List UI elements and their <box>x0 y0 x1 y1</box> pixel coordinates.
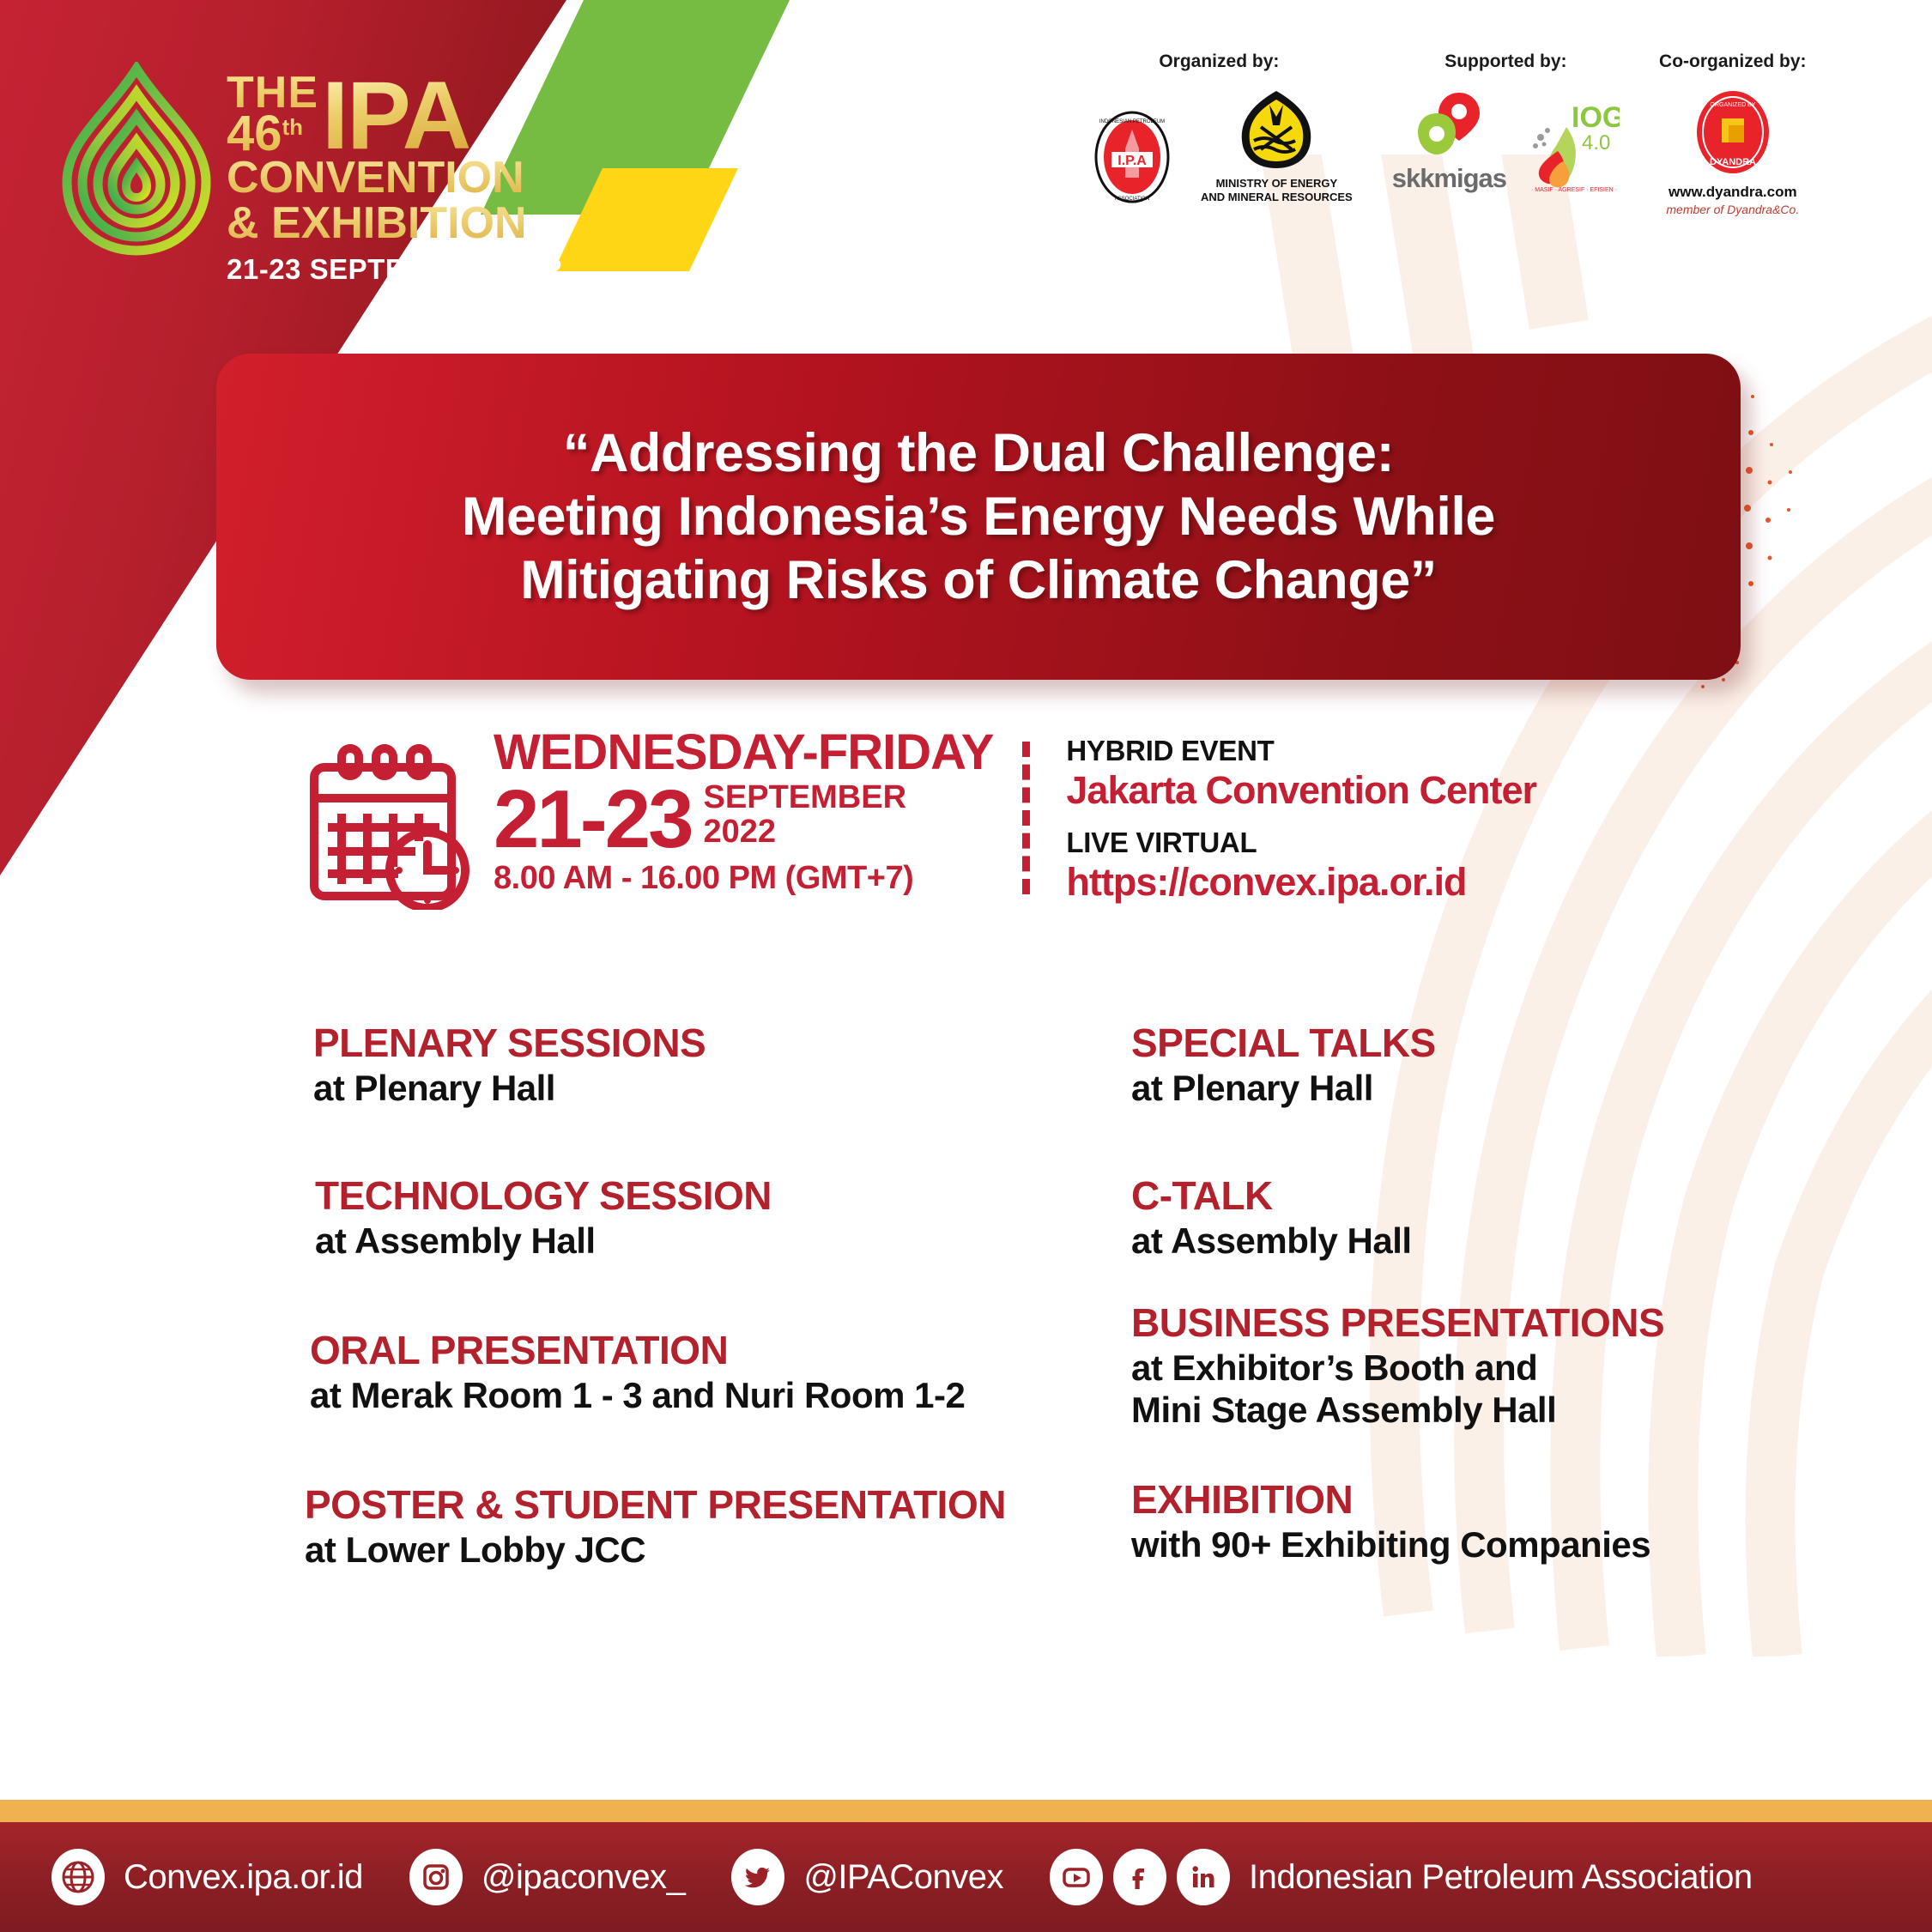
footer-gold-bar <box>0 1800 1932 1822</box>
logo-convention-text: CONVENTION <box>227 155 563 201</box>
globe-icon <box>51 1849 105 1905</box>
live-virtual-label: LIVE VIRTUAL <box>1066 827 1536 859</box>
iog-flame-icon: IOG 4.0 · MASIF · AGRESIF · EFISIEN · <box>1529 101 1620 194</box>
session-title: BUSINESS PRESENTATIONS <box>1131 1301 1664 1345</box>
instagram-icon <box>409 1849 463 1905</box>
session-item-exhibition: EXHIBITION with 90+ Exhibiting Companies <box>1131 1478 1650 1566</box>
session-title: C-TALK <box>1131 1174 1412 1218</box>
session-location: at Merak Room 1 - 3 and Nuri Room 1-2 <box>310 1374 965 1417</box>
session-title: TECHNOLOGY SESSION <box>315 1174 772 1218</box>
hybrid-event-venue: Jakarta Convention Center <box>1066 768 1536 813</box>
event-datetime-venue-row: WEDNESDAY-FRIDAY 21-23 SEPTEMBER 2022 8.… <box>302 728 1536 910</box>
ipa-convention-logo: THE 46 th IPA CONVENTION & EXHIBITION 21… <box>60 62 563 286</box>
ipa-logo-item: I.P.A INDONESIAN PETROLEUM ASSOCIATION <box>1086 111 1178 203</box>
svg-text:4.0: 4.0 <box>1582 131 1610 154</box>
session-item-poster-student-presentation: POSTER & STUDENT PRESENTATION at Lower L… <box>305 1483 1006 1571</box>
coorganized-by-group: Co-organized by: ORGANIZED BY DYANDRA ww… <box>1659 51 1807 216</box>
organized-by-group: Organized by: I.P.A INDONESIAN PETROLEUM… <box>1086 51 1353 203</box>
ipa-droplet-spiral-icon <box>60 62 213 259</box>
skkmigas-wordmark: skkmigas <box>1392 163 1506 194</box>
dyandra-logo-item: ORGANIZED BY DYANDRA www.dyandra.com mem… <box>1666 88 1799 216</box>
session-location: with 90+ Exhibiting Companies <box>1131 1523 1650 1566</box>
youtube-icon <box>1050 1849 1103 1905</box>
logo-dates-text: 21-23 SEPTEMBER 2022 <box>227 253 563 286</box>
session-location: at Plenary Hall <box>1131 1067 1436 1110</box>
skkmigas-pin-icon <box>1406 88 1492 161</box>
facebook-icon <box>1113 1849 1166 1905</box>
svg-text:INDONESIAN PETROLEUM: INDONESIAN PETROLEUM <box>1099 119 1165 124</box>
svg-text:ORGANIZED BY: ORGANIZED BY <box>1710 102 1755 108</box>
logo-exhibition-text: & EXHIBITION <box>227 201 563 246</box>
vertical-dashed-divider <box>1022 742 1030 894</box>
banner-title-line2: Meeting Indonesia’s Energy Needs While <box>462 487 1495 547</box>
dyandra-member-text: member of Dyandra&Co. <box>1666 203 1799 216</box>
partner-logos-strip: Organized by: I.P.A INDONESIAN PETROLEUM… <box>1086 51 1807 216</box>
svg-text:IOG: IOG <box>1572 101 1620 134</box>
session-item-special-talks: SPECIAL TALKS at Plenary Hall <box>1131 1021 1436 1109</box>
logo-edition-number: 46 <box>227 112 282 155</box>
footer-twitter-item[interactable]: @IPAConvex <box>731 1849 1003 1905</box>
session-location: at Assembly Hall <box>315 1220 772 1263</box>
svg-text:DYANDRA: DYANDRA <box>1710 157 1756 167</box>
footer-instagram-handle: @ipaconvex_ <box>481 1858 685 1897</box>
supported-by-group: Supported by: skkmigas IOG 4.0 <box>1392 51 1620 194</box>
event-date-block: WEDNESDAY-FRIDAY 21-23 SEPTEMBER 2022 8.… <box>494 728 993 897</box>
theme-banner: “Addressing the Dual Challenge: Meeting … <box>216 354 1741 680</box>
twitter-icon <box>731 1849 784 1905</box>
footer-website-item[interactable]: Convex.ipa.or.id <box>51 1849 363 1905</box>
ministry-energy-seal-icon <box>1235 88 1317 172</box>
session-location: at Plenary Hall <box>313 1067 706 1110</box>
session-title: ORAL PRESENTATION <box>310 1329 965 1372</box>
footer-social-bar: Convex.ipa.or.id @ipaconvex_ @IPAConvex <box>0 1822 1932 1932</box>
event-time: 8.00 AM - 16.00 PM (GMT+7) <box>494 860 993 897</box>
banner-title-line1: “Addressing the Dual Challenge: <box>563 423 1394 483</box>
calendar-clock-icon <box>302 738 478 910</box>
banner-title-line3: Mitigating Risks of Climate Change” <box>520 550 1437 610</box>
footer-association-name: Indonesian Petroleum Association <box>1249 1858 1753 1897</box>
footer-instagram-item[interactable]: @ipaconvex_ <box>409 1849 685 1905</box>
svg-text:I.P.A: I.P.A <box>1117 154 1147 168</box>
session-title: EXHIBITION <box>1131 1478 1650 1522</box>
session-item-oral-presentation: ORAL PRESENTATION at Merak Room 1 - 3 an… <box>310 1329 965 1416</box>
dyandra-seal-icon: ORGANIZED BY DYANDRA <box>1686 88 1780 180</box>
ipa-association-seal-icon: I.P.A INDONESIAN PETROLEUM ASSOCIATION <box>1086 111 1178 203</box>
hybrid-event-label: HYBRID EVENT <box>1066 735 1536 767</box>
session-title: PLENARY SESSIONS <box>313 1021 706 1065</box>
logo-ordinal-suffix: th <box>282 118 304 136</box>
event-month: SEPTEMBER <box>704 781 906 815</box>
footer-youtube-item[interactable] <box>1050 1849 1103 1905</box>
iog-tagline: · MASIF · AGRESIF · EFISIEN · <box>1531 187 1617 193</box>
supported-by-label: Supported by: <box>1444 51 1566 72</box>
session-item-technology-session: TECHNOLOGY SESSION at Assembly Hall <box>315 1174 772 1262</box>
banner-title: “Addressing the Dual Challenge: Meeting … <box>427 421 1529 613</box>
session-location-line1: at Exhibitor’s Booth and <box>1131 1347 1664 1390</box>
ministry-logo-item: MINISTRY OF ENERGY AND MINERAL RESOURCES <box>1201 88 1353 203</box>
coorganized-by-label: Co-organized by: <box>1659 51 1807 72</box>
skkmigas-logo-item: skkmigas <box>1392 88 1506 194</box>
session-item-plenary-sessions: PLENARY SESSIONS at Plenary Hall <box>313 1021 706 1109</box>
footer-twitter-handle: @IPAConvex <box>803 1858 1003 1897</box>
logo-ipa-acronym: IPA <box>322 76 469 155</box>
session-location: at Lower Lobby JCC <box>305 1529 1006 1572</box>
session-title: POSTER & STUDENT PRESENTATION <box>305 1483 1006 1527</box>
dyandra-url: www.dyandra.com <box>1669 184 1797 201</box>
footer-linkedin-item[interactable]: Indonesian Petroleum Association <box>1177 1849 1753 1905</box>
logo-text-block: THE 46 th IPA CONVENTION & EXHIBITION 21… <box>227 74 563 286</box>
live-virtual-url[interactable]: https://convex.ipa.or.id <box>1066 860 1536 905</box>
event-year: 2022 <box>704 815 906 850</box>
svg-text:ASSOCIATION: ASSOCIATION <box>1115 197 1150 202</box>
ministry-caption-line2: AND MINERAL RESOURCES <box>1201 191 1353 203</box>
session-location-line2: Mini Stage Assembly Hall <box>1131 1389 1664 1432</box>
session-title: SPECIAL TALKS <box>1131 1021 1436 1065</box>
linkedin-icon <box>1177 1849 1230 1905</box>
footer-website-text: Convex.ipa.or.id <box>124 1858 363 1897</box>
session-item-business-presentations: BUSINESS PRESENTATIONS at Exhibitor’s Bo… <box>1131 1301 1664 1432</box>
iog40-logo-item: IOG 4.0 · MASIF · AGRESIF · EFISIEN · <box>1529 101 1620 194</box>
session-item-c-talk: C-TALK at Assembly Hall <box>1131 1174 1412 1262</box>
organized-by-label: Organized by: <box>1159 51 1279 72</box>
poster-canvas: THE 46 th IPA CONVENTION & EXHIBITION 21… <box>0 0 1932 1932</box>
event-weekday-range: WEDNESDAY-FRIDAY <box>494 728 993 778</box>
footer-facebook-item[interactable] <box>1113 1849 1166 1905</box>
session-location: at Assembly Hall <box>1131 1220 1412 1263</box>
event-venue-block: HYBRID EVENT Jakarta Convention Center L… <box>1066 735 1536 905</box>
event-day-range: 21-23 <box>494 784 692 855</box>
ministry-caption-line1: MINISTRY OF ENERGY <box>1216 177 1338 190</box>
